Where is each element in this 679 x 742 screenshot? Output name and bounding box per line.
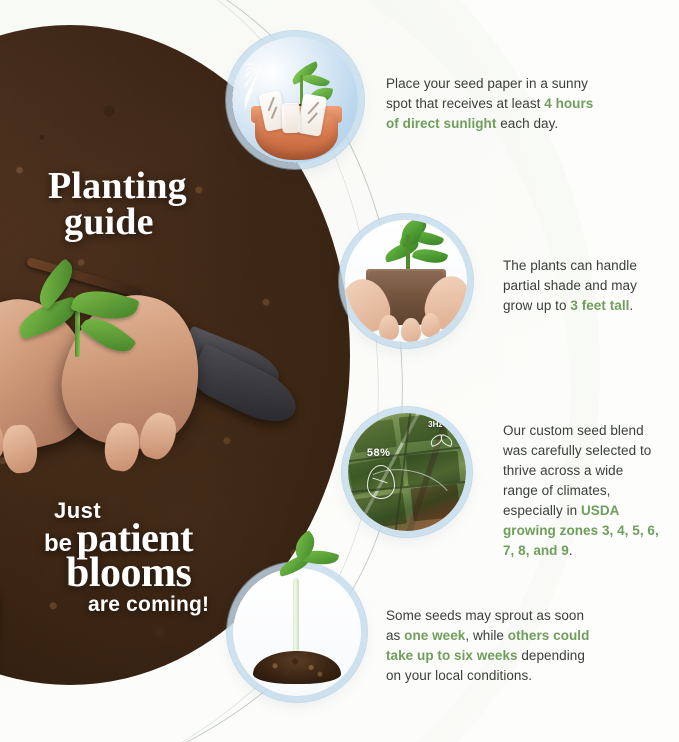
card-text-line bbox=[271, 107, 277, 120]
step-4-text: Some seeds may sprout as soon as one wee… bbox=[386, 606, 596, 686]
finger bbox=[379, 315, 399, 339]
tagline-row-4: are coming! bbox=[44, 593, 209, 617]
seedling-stem bbox=[75, 311, 80, 357]
tagline-are-coming: are coming! bbox=[44, 593, 209, 617]
body-text: . bbox=[569, 543, 573, 558]
step-1-text: Place your seed paper in a sunny spot th… bbox=[386, 74, 596, 134]
tagline-row-3: blooms bbox=[44, 549, 209, 597]
sprout-leaves-above-circle bbox=[262, 528, 342, 588]
closing-tagline: Just be patient blooms are coming! bbox=[44, 498, 209, 617]
secondary-value-label: 3Hz bbox=[428, 420, 442, 429]
tagline-blooms: blooms bbox=[44, 549, 191, 597]
page-title-line-2: guide bbox=[48, 204, 187, 240]
seed-paper-card bbox=[282, 102, 301, 133]
water-drop-icon bbox=[367, 465, 395, 499]
sprout-overlay-icon bbox=[430, 430, 452, 446]
step-3-photo: 58% 3Hz bbox=[348, 413, 466, 531]
planting-guide-page: Planting guide Just be patient blooms ar… bbox=[0, 0, 679, 742]
step-1-photo bbox=[232, 37, 358, 163]
soil-particles bbox=[253, 651, 340, 684]
body-text: , while bbox=[465, 628, 507, 643]
emphasis-text: one week bbox=[404, 628, 465, 643]
sprout-leaf-outline bbox=[439, 433, 454, 446]
body-text: Our custom seed blend was carefully sele… bbox=[503, 423, 651, 518]
finger bbox=[421, 313, 441, 337]
humidity-value-label: 58% bbox=[367, 447, 391, 459]
step-3-text: Our custom seed blend was carefully sele… bbox=[503, 421, 661, 561]
page-title: Planting guide bbox=[48, 168, 187, 240]
soil-mound bbox=[253, 651, 340, 684]
step-2-photo bbox=[345, 220, 467, 342]
finger bbox=[401, 318, 421, 342]
body-text: each day. bbox=[496, 116, 558, 131]
step-2-text: The plants can handle partial shade and … bbox=[503, 256, 663, 316]
step-2-image-circle bbox=[345, 220, 467, 342]
step-1-image-circle bbox=[232, 37, 358, 163]
hands-holding-seedling bbox=[0, 265, 205, 465]
body-text: . bbox=[629, 298, 633, 313]
sprout-stem bbox=[293, 578, 299, 662]
step-3-image-circle: 58% 3Hz bbox=[348, 413, 466, 531]
emphasis-text: 3 feet tall bbox=[570, 298, 629, 313]
